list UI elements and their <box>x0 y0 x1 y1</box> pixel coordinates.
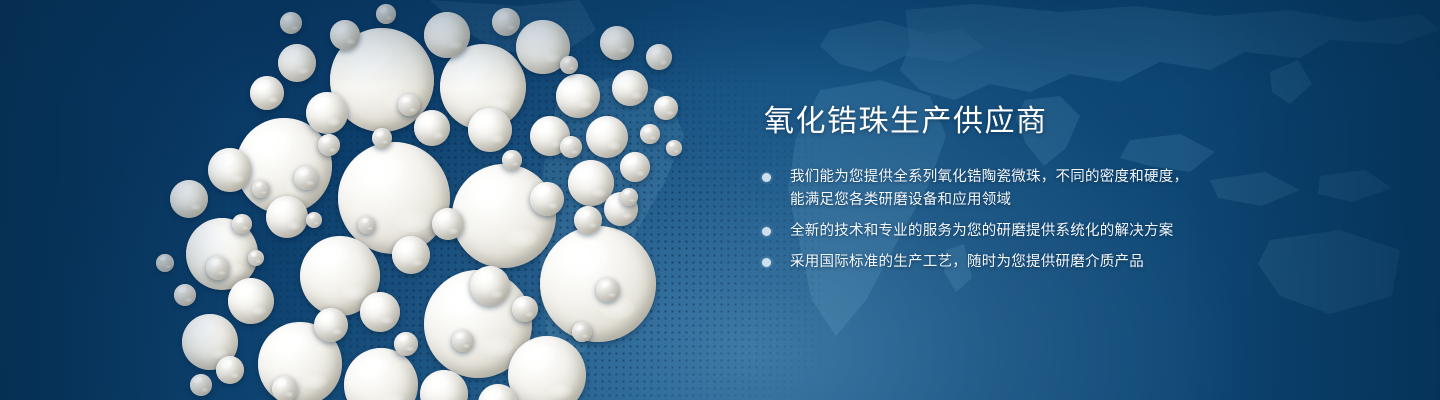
bullet-dot-icon <box>762 258 771 267</box>
list-item: 采用国际标准的生产工艺，随时为您提供研磨介质产品 <box>762 251 1322 274</box>
list-item: 全新的技术和专业的服务为您的研磨提供系统化的解决方案 <box>762 220 1322 243</box>
bullet-dot-icon <box>762 173 771 182</box>
hero-banner: 氧化锆珠生产供应商 我们能为您提供全系列氧化锆陶瓷微珠，不同的密度和硬度， 能满… <box>0 0 1440 400</box>
list-item-line: 全新的技术和专业的服务为您的研磨提供系统化的解决方案 <box>790 220 1322 243</box>
list-item-line: 能满足您各类研磨设备和应用领域 <box>790 189 1322 212</box>
list-item-line: 采用国际标准的生产工艺，随时为您提供研磨介质产品 <box>790 251 1322 274</box>
list-item-line: 我们能为您提供全系列氧化锆陶瓷微珠，不同的密度和硬度， <box>790 166 1322 189</box>
bullet-dot-icon <box>762 227 771 236</box>
banner-copy: 氧化锆珠生产供应商 我们能为您提供全系列氧化锆陶瓷微珠，不同的密度和硬度， 能满… <box>762 104 1322 274</box>
list-item: 我们能为您提供全系列氧化锆陶瓷微珠，不同的密度和硬度， 能满足您各类研磨设备和应… <box>762 166 1322 212</box>
page-title: 氧化锆珠生产供应商 <box>764 104 1322 140</box>
feature-list: 我们能为您提供全系列氧化锆陶瓷微珠，不同的密度和硬度， 能满足您各类研磨设备和应… <box>762 166 1322 274</box>
